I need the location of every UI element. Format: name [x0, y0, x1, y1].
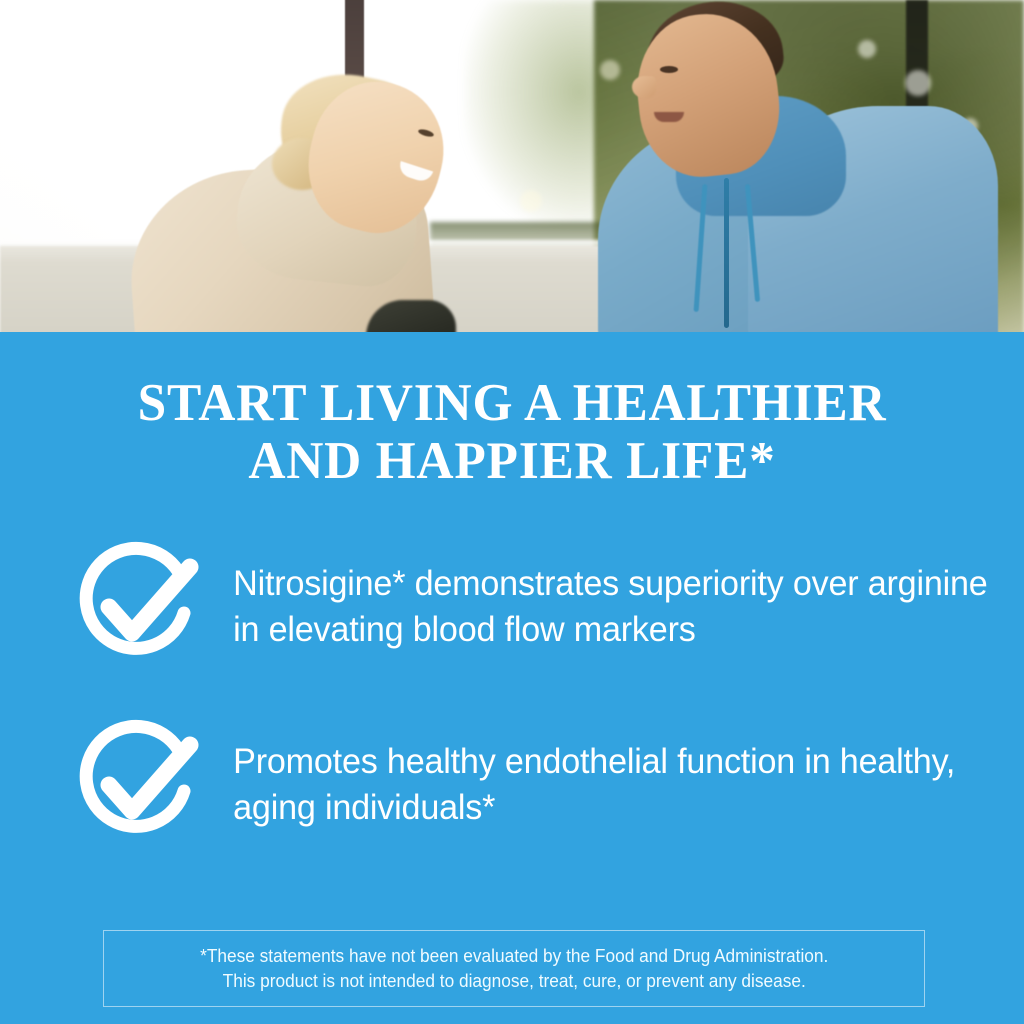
disclaimer-line-2: This product is not intended to diagnose…	[200, 969, 828, 994]
headline-line-1: START LIVING A HEALTHIER	[15, 374, 1008, 432]
check-circle-icon	[74, 719, 200, 845]
man-zipper	[724, 178, 729, 328]
bokeh-highlight	[520, 190, 542, 212]
page-title: START LIVING A HEALTHIER AND HAPPIER LIF…	[15, 374, 1008, 490]
person-woman	[130, 82, 490, 340]
list-item: Promotes healthy endothelial function in…	[0, 725, 1024, 845]
disclaimer-line-1: *These statements have not been evaluate…	[200, 944, 828, 969]
list-item-label: Promotes healthy endothelial function in…	[200, 725, 1003, 831]
benefit-list: Nitrosigine* demonstrates superiority ov…	[0, 547, 1024, 903]
disclaimer-box: *These statements have not been evaluate…	[103, 930, 925, 1007]
headline-line-2: AND HAPPIER LIFE*	[15, 432, 1008, 490]
check-circle-icon	[74, 541, 200, 667]
man-nose	[632, 76, 656, 98]
person-man	[598, 0, 1018, 340]
promo-graphic: START LIVING A HEALTHIER AND HAPPIER LIF…	[0, 0, 1024, 1024]
hero-photo	[0, 0, 1024, 340]
list-item: Nitrosigine* demonstrates superiority ov…	[0, 547, 1024, 667]
disclaimer-text: *These statements have not been evaluate…	[200, 944, 828, 994]
man-eye	[660, 66, 678, 73]
list-item-label: Nitrosigine* demonstrates superiority ov…	[200, 547, 1003, 653]
blue-content-panel: START LIVING A HEALTHIER AND HAPPIER LIF…	[0, 332, 1024, 1024]
